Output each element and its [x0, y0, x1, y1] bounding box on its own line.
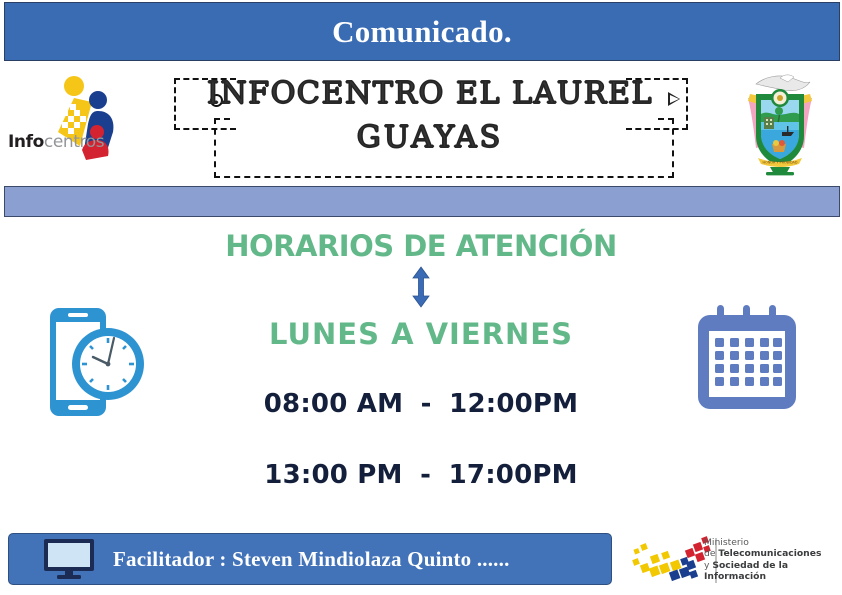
hours-morning-start: 08:00 AM: [264, 389, 403, 419]
masthead: Infocentros INFOCENTRO EL LAUREL GUAYAS: [0, 62, 842, 182]
hours-afternoon-end: 17:00PM: [449, 460, 578, 490]
infocentros-wordmark-bold: Info: [8, 132, 44, 152]
ministry-line-2-prefix: de: [704, 548, 718, 559]
hours-row-morning: 08:00 AM-12:00PM: [0, 389, 842, 419]
facilitator-bar: Facilitador : Steven Mindiolaza Quinto .…: [8, 533, 612, 585]
hours-row-afternoon: 13:00 PM-17:00PM: [0, 460, 842, 490]
ministry-name: Ministerio de Telecomunicaciones y Socie…: [704, 537, 842, 583]
ministry-line-2-bold: Telecomunicaciones: [718, 548, 821, 559]
hours-morning-end: 12:00PM: [449, 389, 578, 419]
ministry-line-3-bold: Sociedad de la Información: [704, 560, 788, 582]
institution-title: INFOCENTRO EL LAUREL GUAYAS: [170, 72, 690, 160]
institution-title-line-2: GUAYAS: [170, 116, 690, 160]
schedule-heading: HORARIOS DE ATENCIÓN: [0, 229, 842, 263]
up-down-arrow-icon: [408, 265, 434, 309]
institution-title-block: INFOCENTRO EL LAUREL GUAYAS: [170, 66, 690, 182]
up-down-arrow-wrap: [0, 265, 842, 314]
facilitator-label: Facilitador : Steven Mindiolaza Quinto .…: [113, 547, 510, 572]
hours-afternoon-start: 13:00 PM: [264, 460, 402, 490]
guayas-coat-of-arms-icon: HONOR Y PROBIDAD: [734, 70, 826, 176]
ministry-line-1: Ministerio: [704, 537, 842, 548]
days-heading: LUNES A VIERNES: [0, 317, 842, 351]
infocentros-wordmark-light: centros: [44, 132, 104, 152]
ministry-line-3: y Sociedad de la Información: [704, 560, 842, 583]
ministry-line-2: de Telecomunicaciones: [704, 548, 842, 559]
header-banner: Comunicado.: [4, 2, 840, 61]
infocentros-wordmark: Infocentros: [8, 132, 148, 152]
hours-afternoon-separator: -: [403, 460, 449, 490]
comunicado-poster: Comunicado.: [0, 0, 842, 595]
coat-of-arms-motto: HONOR Y PROBIDAD: [763, 161, 798, 165]
footer: Facilitador : Steven Mindiolaza Quinto .…: [0, 517, 842, 595]
monitor-icon: [43, 538, 95, 580]
divider-band: [4, 186, 840, 217]
institution-title-line-1: INFOCENTRO EL LAUREL: [207, 76, 653, 111]
page-title: Comunicado.: [332, 14, 512, 50]
hours-morning-separator: -: [403, 389, 449, 419]
infocentros-logo-icon: [18, 72, 138, 176]
main-content: HORARIOS DE ATENCIÓN LUNES A VIERNES 08:…: [0, 217, 842, 517]
